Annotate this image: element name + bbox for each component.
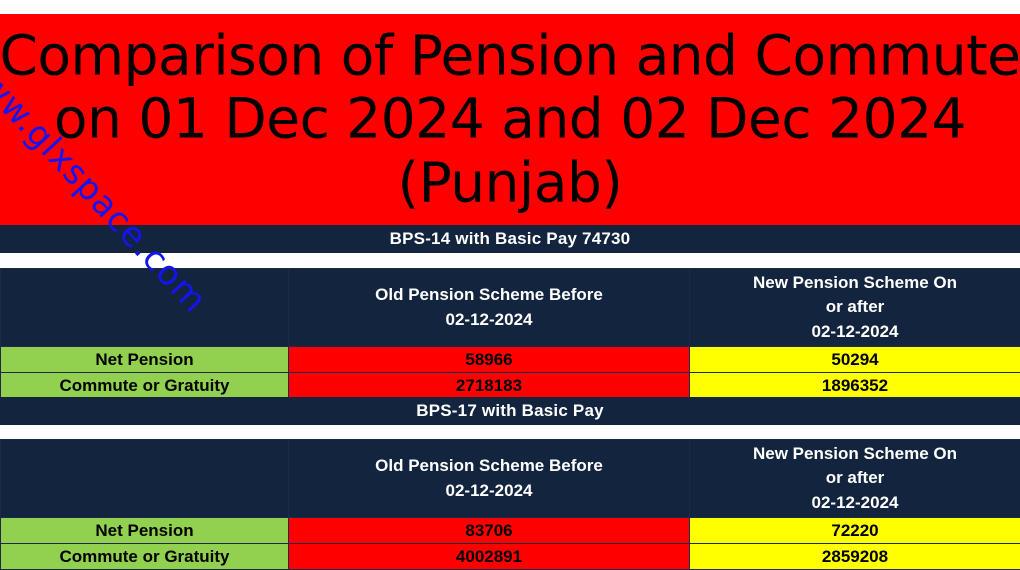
header-new-line-3: 02-12-2024: [690, 491, 1020, 516]
header-cell-new-scheme: New Pension Scheme On or after 02-12-202…: [690, 269, 1020, 347]
section-bar-label: BPS-14 with Basic Pay 74730: [390, 229, 631, 249]
header-new-line-2: or after: [690, 295, 1020, 320]
pension-comparison-graphic: Comparison of Pension and Commute on 01 …: [0, 0, 1020, 570]
cell-old-commute-or-gratuity: 2718183: [289, 373, 690, 399]
cell-new-net-pension: 72220: [690, 518, 1020, 544]
table-header-row: Old Pension Scheme Before 02-12-2024 New…: [1, 440, 1020, 518]
cell-new-commute-or-gratuity: 1896352: [690, 373, 1020, 399]
header-old-line-1: Old Pension Scheme Before: [289, 454, 689, 479]
header-old-line-1: Old Pension Scheme Before: [289, 283, 689, 308]
row-label-commute-or-gratuity: Commute or Gratuity: [1, 373, 289, 399]
row-label-net-pension: Net Pension: [1, 518, 289, 544]
section-bar-bps-14: BPS-14 with Basic Pay 74730: [0, 225, 1020, 253]
row-label-net-pension: Net Pension: [1, 347, 289, 373]
header-cell-new-scheme: New Pension Scheme On or after 02-12-202…: [690, 440, 1020, 518]
table-row: Commute or Gratuity 2718183 1896352: [1, 373, 1020, 399]
header-cell-label-col: [1, 440, 289, 518]
cell-new-net-pension: 50294: [690, 347, 1020, 373]
header-old-line-2: 02-12-2024: [289, 479, 689, 504]
section-bar-bps-17: BPS-17 with Basic Pay: [0, 397, 1020, 425]
cell-old-net-pension: 83706: [289, 518, 690, 544]
table-bps-14: Old Pension Scheme Before 02-12-2024 New…: [0, 268, 1020, 399]
table-row: Net Pension 58966 50294: [1, 347, 1020, 373]
header-cell-label-col: [1, 269, 289, 347]
table-row: Commute or Gratuity 4002891 2859208: [1, 544, 1020, 570]
title-line-2: on 01 Dec 2024 and 02 Dec 2024: [0, 88, 1020, 152]
title-line-3: (Punjab): [0, 151, 1020, 215]
title-text-block: Comparison of Pension and Commute on 01 …: [0, 24, 1020, 215]
table-row: Net Pension 83706 72220: [1, 518, 1020, 544]
cell-old-commute-or-gratuity: 4002891: [289, 544, 690, 570]
title-line-1: Comparison of Pension and Commute: [0, 24, 1020, 88]
table-bps-17: Old Pension Scheme Before 02-12-2024 New…: [0, 439, 1020, 570]
header-new-line-2: or after: [690, 466, 1020, 491]
header-cell-old-scheme: Old Pension Scheme Before 02-12-2024: [289, 269, 690, 347]
header-cell-old-scheme: Old Pension Scheme Before 02-12-2024: [289, 440, 690, 518]
table-header-row: Old Pension Scheme Before 02-12-2024 New…: [1, 269, 1020, 347]
cell-new-commute-or-gratuity: 2859208: [690, 544, 1020, 570]
section-bar-label: BPS-17 with Basic Pay: [416, 401, 604, 421]
header-new-line-1: New Pension Scheme On: [690, 442, 1020, 467]
title-banner: Comparison of Pension and Commute on 01 …: [0, 14, 1020, 225]
header-old-line-2: 02-12-2024: [289, 308, 689, 333]
header-new-line-1: New Pension Scheme On: [690, 271, 1020, 296]
row-label-commute-or-gratuity: Commute or Gratuity: [1, 544, 289, 570]
header-new-line-3: 02-12-2024: [690, 320, 1020, 345]
cell-old-net-pension: 58966: [289, 347, 690, 373]
